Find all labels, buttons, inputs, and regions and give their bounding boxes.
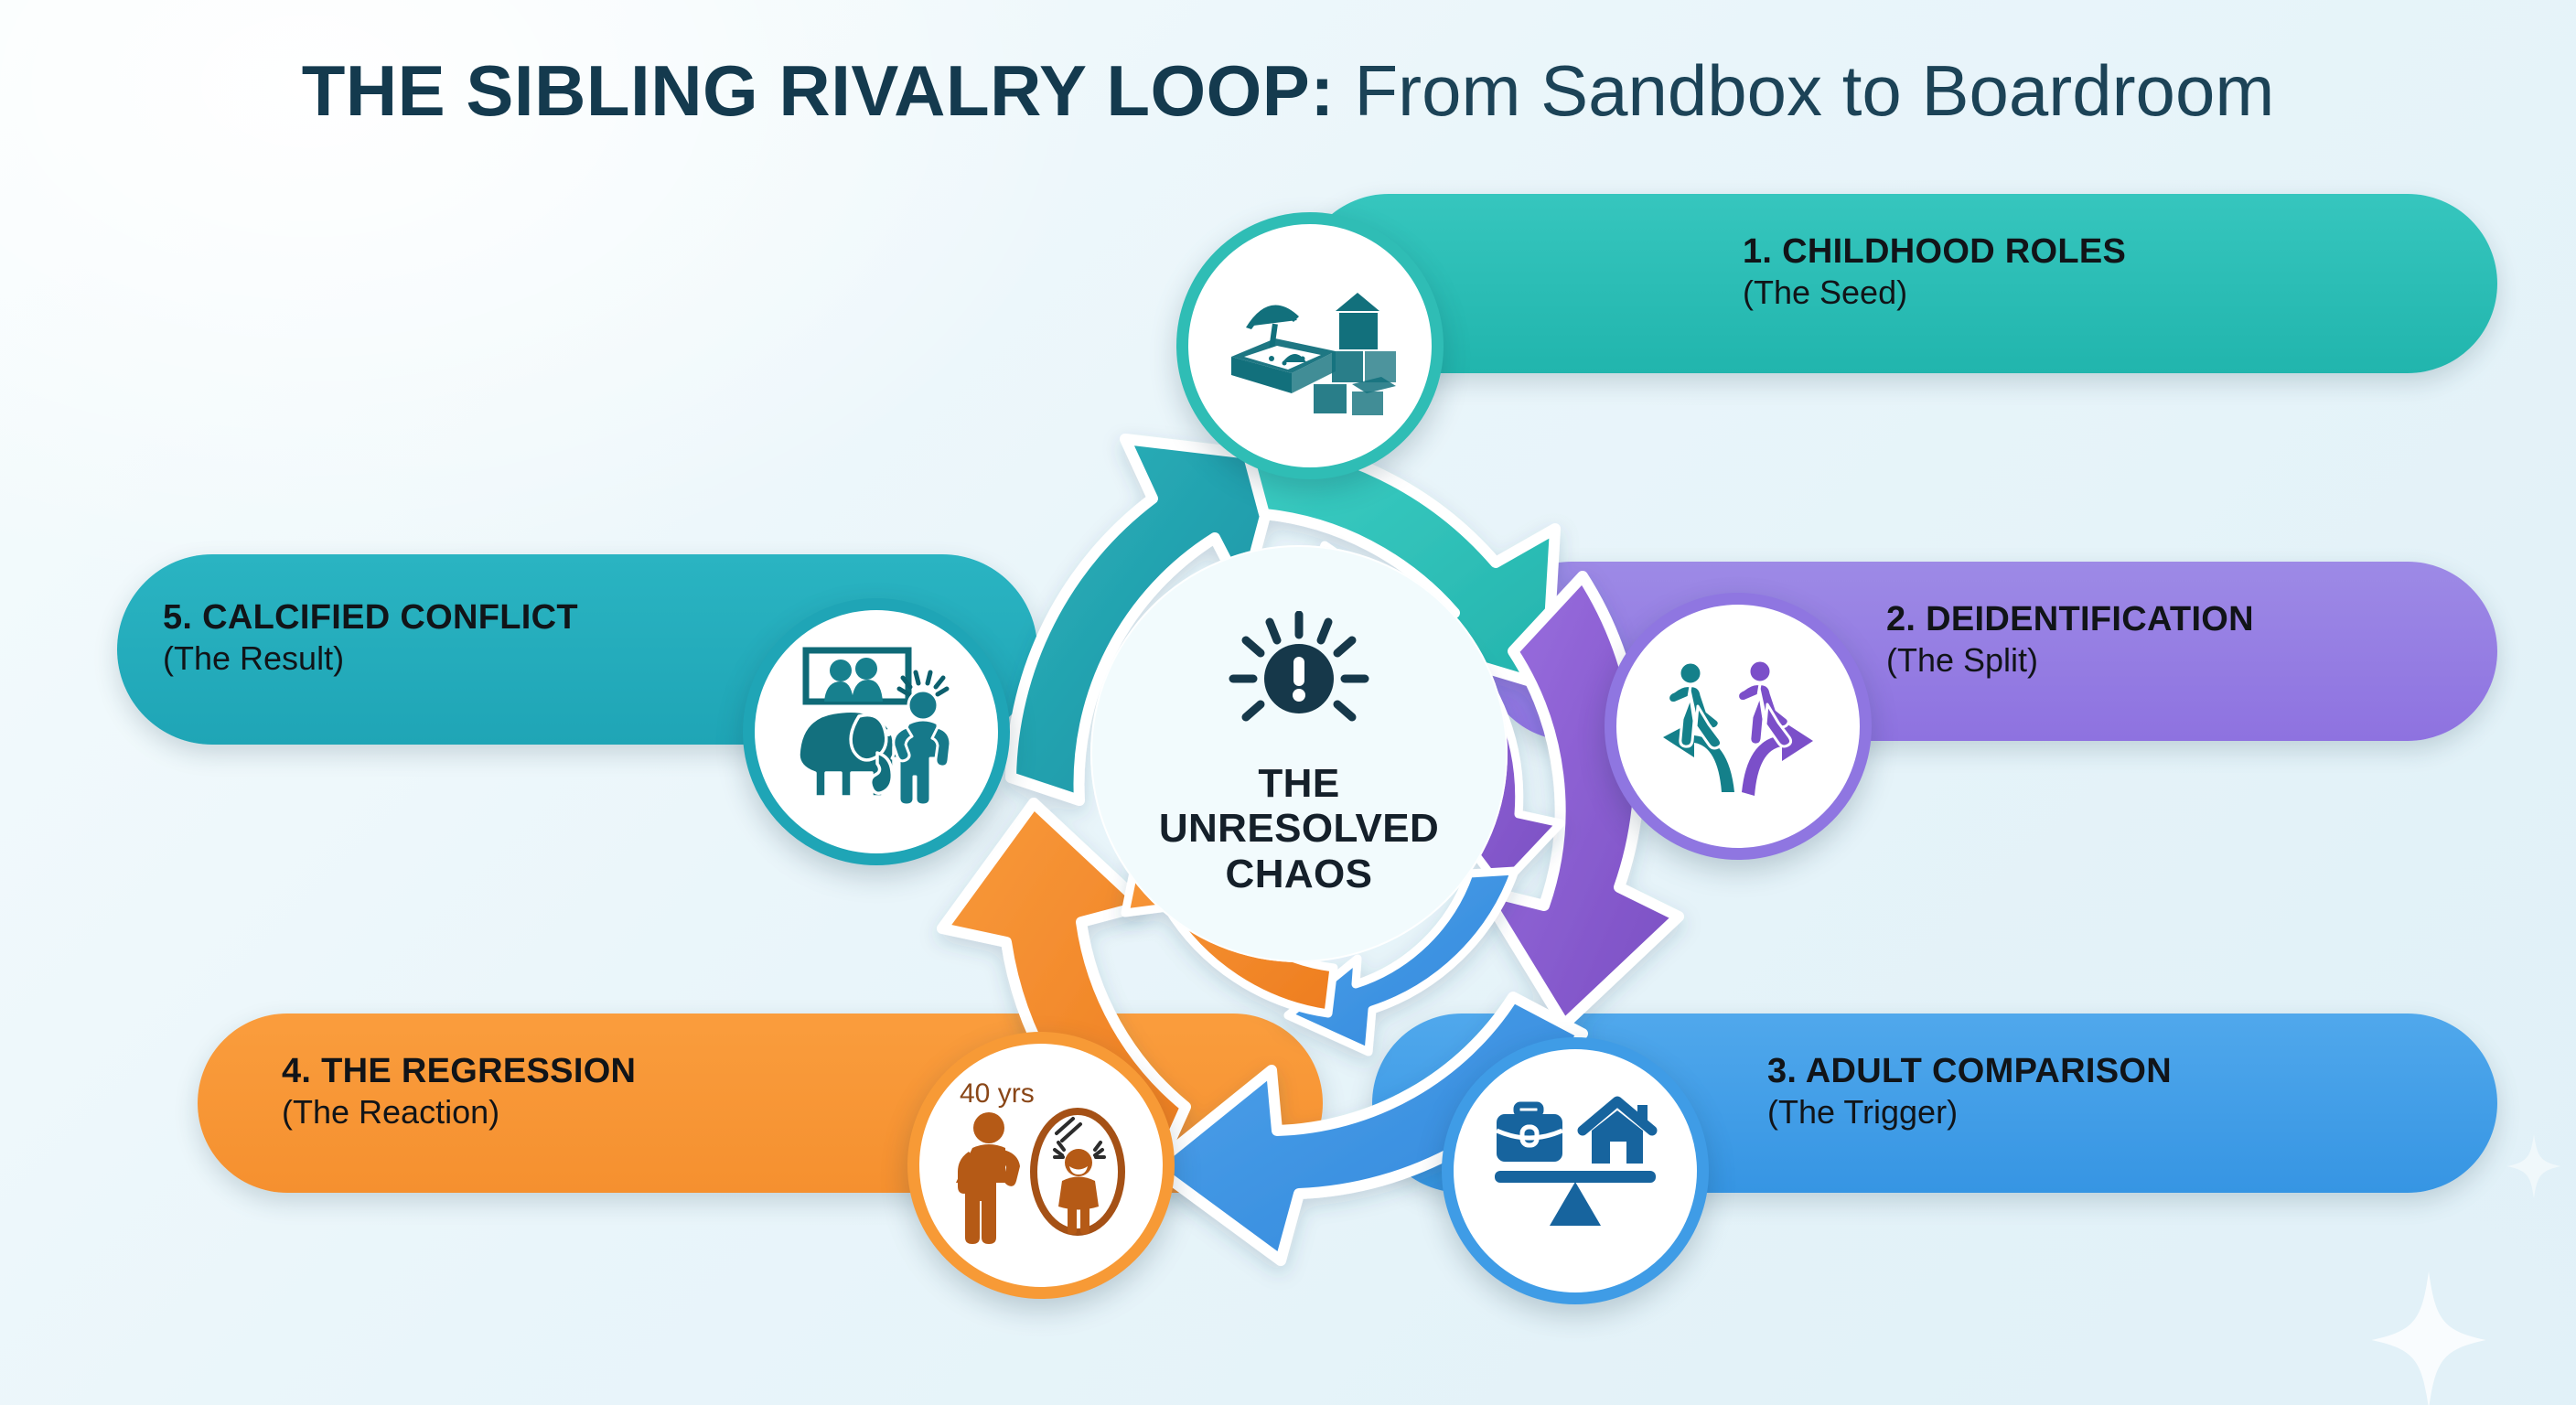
step-label-4: 4. THE REGRESSION (The Reaction) bbox=[282, 1050, 636, 1132]
exclamation-burst-icon bbox=[1218, 611, 1379, 748]
step-4-title: 4. THE REGRESSION bbox=[282, 1050, 636, 1092]
title-light: From Sandbox to Boardroom bbox=[1335, 50, 2274, 131]
briefcase-house-balance-icon bbox=[1484, 1079, 1667, 1262]
infographic-canvas: THE SIBLING RIVALRY LOOP: From Sandbox t… bbox=[0, 0, 2576, 1405]
step-4-subtitle: (The Reaction) bbox=[282, 1092, 636, 1132]
step-2-subtitle: (The Split) bbox=[1886, 640, 2254, 681]
step-3-subtitle: (The Trigger) bbox=[1767, 1092, 2172, 1132]
mirror-regression-icon: 40 yrs bbox=[947, 1071, 1135, 1260]
hub-line-2: UNRESOLVED bbox=[1159, 806, 1439, 851]
hub-line-3: CHAOS bbox=[1159, 852, 1439, 896]
center-hub: THE UNRESOLVED CHAOS bbox=[1090, 545, 1508, 962]
step-4-icon-medallion[interactable]: 40 yrs bbox=[907, 1032, 1175, 1299]
sparkle-icon-small bbox=[2506, 1134, 2561, 1198]
elephant-in-the-room-icon bbox=[782, 638, 971, 826]
step-5-icon-medallion[interactable] bbox=[743, 598, 1010, 865]
hub-line-1: THE bbox=[1159, 761, 1439, 806]
title-strong: THE SIBLING RIVALRY LOOP: bbox=[302, 50, 1335, 131]
step-label-1: 1. CHILDHOOD ROLES (The Seed) bbox=[1743, 231, 2126, 313]
step-label-2: 2. DEIDENTIFICATION (The Split) bbox=[1886, 598, 2254, 681]
age-caption: 40 yrs bbox=[960, 1078, 1035, 1109]
step-1-subtitle: (The Seed) bbox=[1743, 273, 2126, 313]
center-hub-label: THE UNRESOLVED CHAOS bbox=[1159, 761, 1439, 896]
step-1-title: 1. CHILDHOOD ROLES bbox=[1743, 231, 2126, 273]
step-2-icon-medallion[interactable] bbox=[1605, 593, 1872, 860]
sandbox-blocks-icon bbox=[1218, 254, 1401, 437]
step-3-icon-medallion[interactable] bbox=[1442, 1037, 1709, 1304]
step-1-icon-medallion[interactable] bbox=[1176, 212, 1444, 479]
step-5-subtitle: (The Result) bbox=[163, 638, 578, 679]
step-2-title: 2. DEIDENTIFICATION bbox=[1886, 598, 2254, 640]
step-3-title: 3. ADULT COMPARISON bbox=[1767, 1050, 2172, 1092]
step-5-title: 5. CALCIFIED CONFLICT bbox=[163, 596, 578, 638]
step-label-3: 3. ADULT COMPARISON (The Trigger) bbox=[1767, 1050, 2172, 1132]
diverging-paths-icon bbox=[1647, 635, 1830, 818]
step-label-5: 5. CALCIFIED CONFLICT (The Result) bbox=[163, 596, 578, 679]
sparkle-icon bbox=[2369, 1271, 2488, 1405]
page-title: THE SIBLING RIVALRY LOOP: From Sandbox t… bbox=[0, 49, 2576, 133]
